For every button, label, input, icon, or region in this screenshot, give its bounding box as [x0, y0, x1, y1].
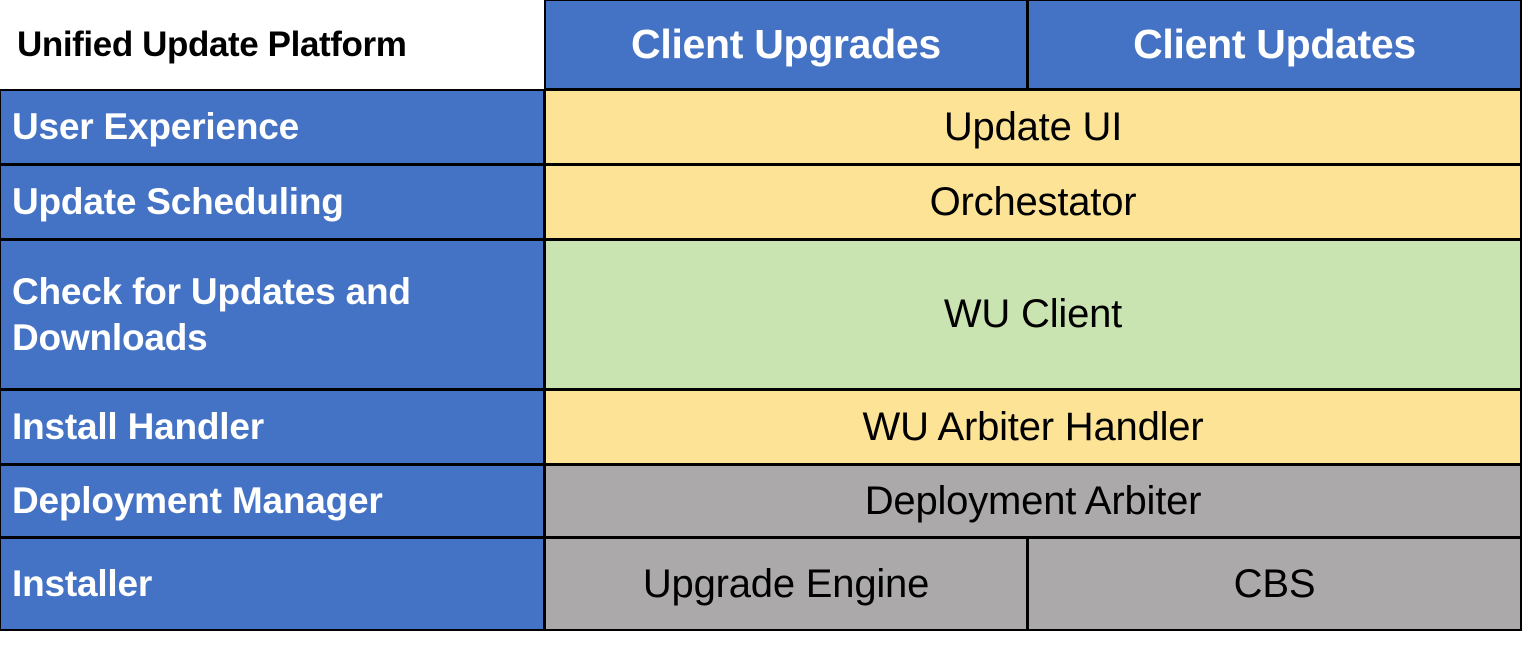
row-header-label: Installer: [12, 561, 152, 606]
cell-label: Orchestator: [930, 180, 1137, 225]
column-header-label: Client Upgrades: [631, 21, 941, 68]
cell-label: Update UI: [944, 105, 1122, 150]
row-header-deployment-manager: Deployment Manager: [0, 464, 545, 538]
row-header-installer: Installer: [0, 537, 545, 631]
row-header-label: User Experience: [12, 104, 299, 149]
row-header-check-for-updates-and-downloads: Check for Updates and Downloads: [0, 239, 545, 390]
cell-label: Deployment Arbiter: [865, 479, 1202, 524]
table-cell-update-ui: Update UI: [544, 89, 1522, 165]
table-cell-upgrade-engine: Upgrade Engine: [544, 537, 1028, 631]
table-title-cell: Unified Update Platform: [0, 0, 545, 90]
cell-label: WU Arbiter Handler: [863, 405, 1204, 450]
row-header-label: Install Handler: [12, 404, 264, 449]
row-header-label: Deployment Manager: [12, 478, 383, 523]
table-cell-deployment-arbiter: Deployment Arbiter: [544, 464, 1522, 538]
row-header-install-handler: Install Handler: [0, 389, 545, 465]
cell-label: Upgrade Engine: [643, 562, 929, 607]
row-header-label: Update Scheduling: [12, 179, 344, 224]
cell-label: WU Client: [944, 292, 1122, 337]
row-header-label: Check for Updates and Downloads: [12, 269, 537, 359]
table-cell-cbs: CBS: [1027, 537, 1522, 631]
column-header-client-updates: Client Updates: [1027, 0, 1522, 90]
unified-update-platform-table: Unified Update Platform Client Upgrades …: [0, 0, 1522, 656]
row-header-update-scheduling: Update Scheduling: [0, 164, 545, 240]
page-title: Unified Update Platform: [17, 25, 406, 65]
table-cell-orchestator: Orchestator: [544, 164, 1522, 240]
cell-label: CBS: [1234, 562, 1316, 607]
table-cell-wu-arbiter-handler: WU Arbiter Handler: [544, 389, 1522, 465]
row-header-user-experience: User Experience: [0, 89, 545, 165]
table-cell-wu-client: WU Client: [544, 239, 1522, 390]
column-header-client-upgrades: Client Upgrades: [544, 0, 1028, 90]
column-header-label: Client Updates: [1133, 21, 1416, 68]
